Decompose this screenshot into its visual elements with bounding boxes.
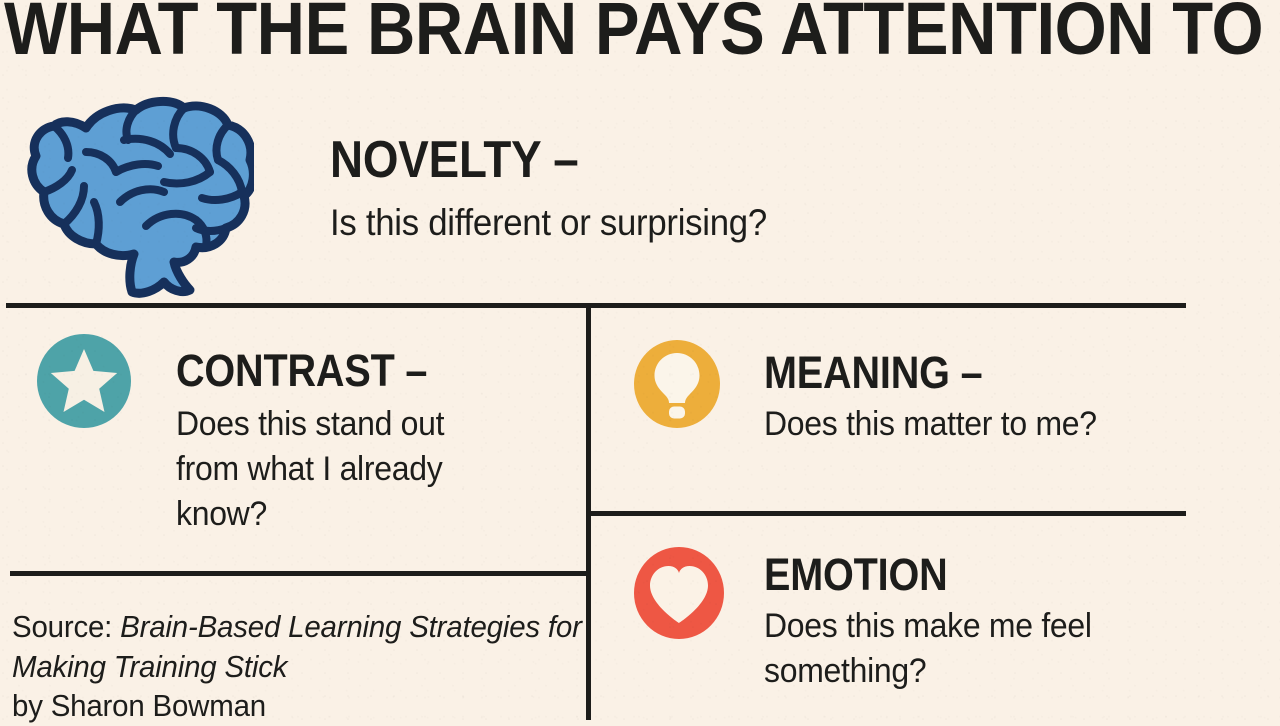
heart-icon	[634, 547, 724, 644]
page-title: WHAT THE BRAIN PAYS ATTENTION TO	[4, 0, 1263, 66]
divider-top-horizontal	[6, 303, 1186, 308]
section-meaning-body: Does this matter to me?	[764, 402, 1097, 447]
section-meaning: MEANING – Does this matter to me?	[764, 350, 1118, 447]
divider-left-horizontal	[10, 571, 588, 576]
source-citation: Source: Brain-Based Learning Strategies …	[12, 607, 582, 726]
section-contrast-heading: CONTRAST –	[176, 348, 484, 394]
brain-illustration	[24, 92, 254, 307]
section-emotion-heading: EMOTION	[764, 552, 1116, 598]
section-meaning-heading: MEANING –	[764, 350, 1076, 396]
section-contrast-body: Does this stand out from what I already …	[176, 402, 505, 537]
divider-right-horizontal	[586, 511, 1186, 516]
source-label: Source:	[12, 609, 120, 644]
source-author: by Sharon Bowman	[12, 686, 582, 726]
lightbulb-icon	[634, 340, 720, 433]
section-novelty-heading: NOVELTY –	[330, 134, 739, 187]
section-novelty-body: Is this different or surprising?	[330, 199, 767, 248]
section-emotion: EMOTION Does this make me feel something…	[764, 552, 1164, 694]
star-icon	[37, 334, 131, 433]
section-emotion-body: Does this make me feel something?	[764, 604, 1140, 694]
section-contrast: CONTRAST – Does this stand out from what…	[176, 348, 526, 537]
section-novelty: NOVELTY – Is this different or surprisin…	[330, 134, 795, 248]
